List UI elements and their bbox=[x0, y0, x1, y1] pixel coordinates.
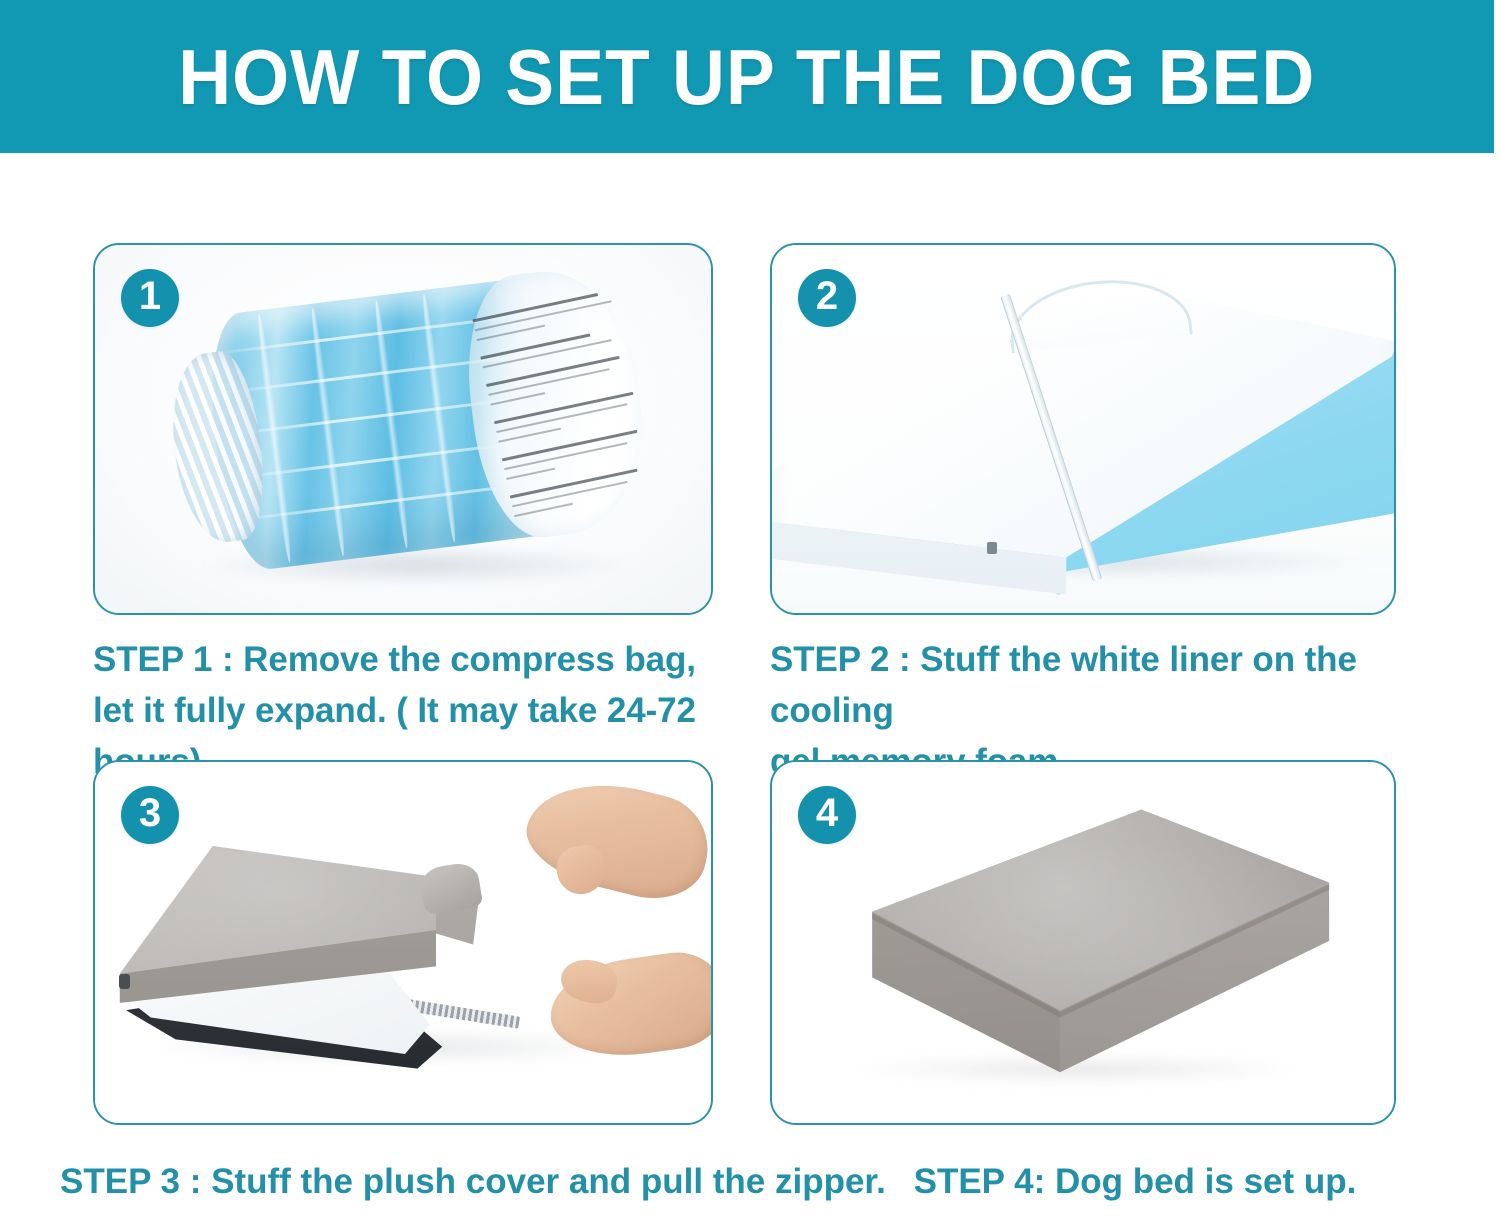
bottom-caption-row: STEP 3 : Stuff the plush cover and pull … bbox=[60, 1162, 1460, 1202]
step-1-illustration bbox=[95, 245, 711, 613]
compressed-foam-roll bbox=[158, 255, 659, 590]
step-4-caption: STEP 4: Dog bed is set up. bbox=[914, 1162, 1357, 1201]
cover-zipper-pull-icon bbox=[119, 974, 130, 989]
step-number-3: 3 bbox=[139, 793, 161, 833]
step-3-caption: STEP 3 : Stuff the plush cover and pull … bbox=[60, 1162, 886, 1201]
step-2-illustration bbox=[772, 245, 1394, 613]
step-number-badge-3: 3 bbox=[121, 786, 179, 844]
step-4-illustration bbox=[772, 762, 1394, 1123]
header-banner: HOW TO SET UP THE DOG BED bbox=[0, 0, 1494, 153]
step-number-badge-1: 1 bbox=[121, 269, 179, 327]
step-number-badge-4: 4 bbox=[798, 786, 856, 844]
step-number-4: 4 bbox=[816, 793, 838, 833]
step-4-image-panel: 4 bbox=[770, 760, 1396, 1125]
page-title: HOW TO SET UP THE DOG BED bbox=[179, 38, 1316, 116]
step-3-image-panel: 3 bbox=[93, 760, 713, 1125]
step-number-2: 2 bbox=[816, 276, 838, 316]
step-1-image-panel: 1 bbox=[93, 243, 713, 615]
zipper-pull-icon bbox=[987, 542, 997, 554]
step-number-badge-2: 2 bbox=[798, 269, 856, 327]
step-3-illustration bbox=[95, 762, 711, 1123]
step-number-1: 1 bbox=[139, 276, 161, 316]
step-2-image-panel: 2 bbox=[770, 243, 1396, 615]
